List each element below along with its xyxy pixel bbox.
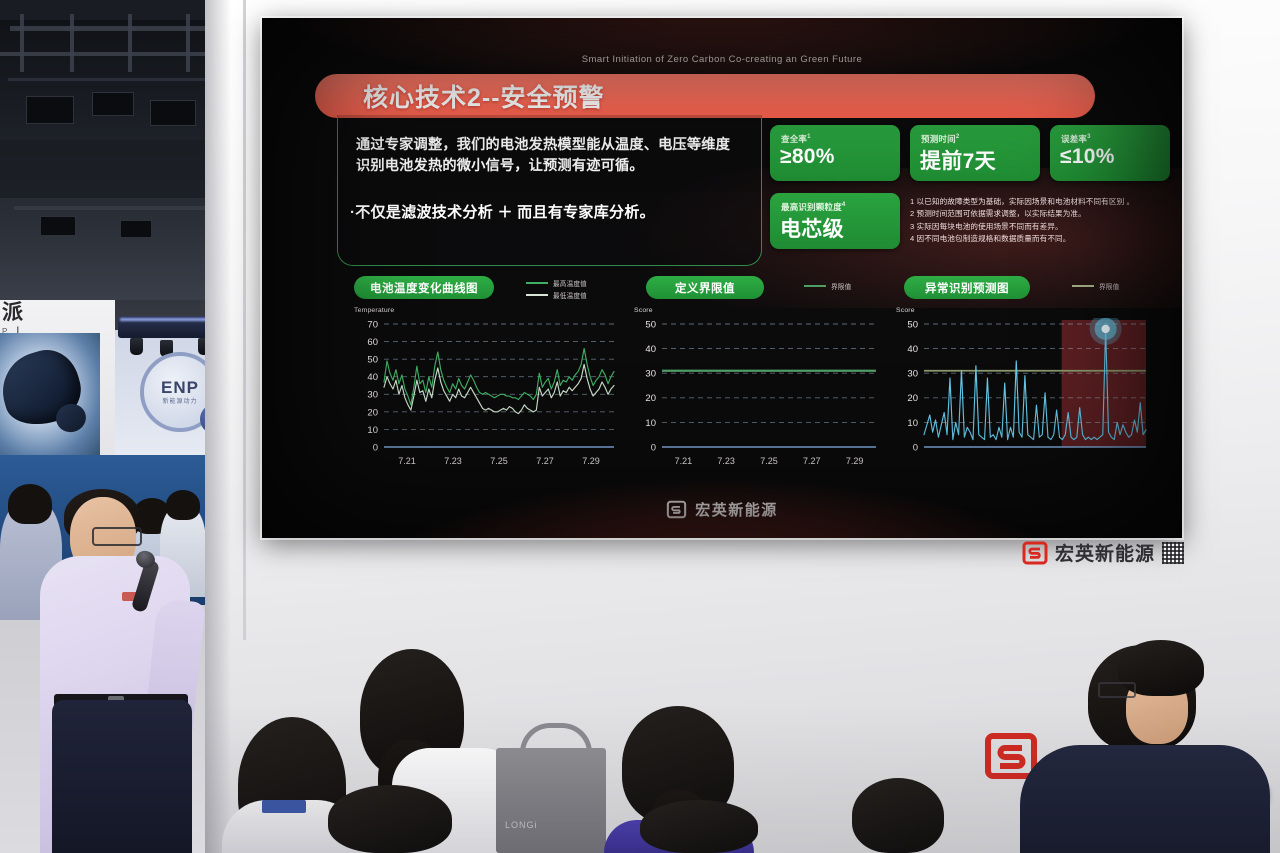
chart-temperature-ylabel: Temperature — [354, 307, 394, 314]
svg-text:7.27: 7.27 — [803, 456, 821, 466]
chart-temperature-legend: 最高温度值 最低温度值 — [526, 278, 587, 302]
stat-card-recall: 查全率1 ≥80% — [770, 125, 900, 181]
legend-label-threshold: 界限值 — [1099, 281, 1119, 291]
stat-card-error-label: 误差率3 — [1061, 133, 1091, 145]
svg-text:30: 30 — [907, 369, 918, 380]
audience-hair — [640, 800, 758, 853]
brand-hex-icon — [666, 500, 687, 519]
legend-item: 最低温度值 — [526, 290, 587, 300]
svg-text:7.21: 7.21 — [398, 456, 416, 466]
chart-threshold-ylabel: Score — [634, 307, 653, 314]
slide-footer-logo: 宏英新能源 — [262, 499, 1182, 520]
svg-text:50: 50 — [367, 355, 378, 366]
svg-text:50: 50 — [907, 319, 918, 330]
footnote-1: 1 以已知的故障类型为基础，实际因场景和电池材料不同有区别 。 — [910, 196, 1176, 208]
background-person-hair — [8, 484, 52, 524]
stat-card-granularity-label: 最高识别颗粒度4 — [781, 201, 845, 213]
svg-text:60: 60 — [367, 337, 378, 348]
stat-card-recall-label: 查全率1 — [781, 133, 811, 145]
legend-swatch-max — [526, 282, 548, 284]
stat-card-leadtime: 预测时间2 提前7天 — [910, 125, 1040, 181]
spotlight-icon — [130, 338, 143, 355]
svg-text:0: 0 — [913, 442, 918, 453]
slide-title: 核心技术2--安全预警 — [363, 78, 605, 114]
stat-card-recall-value: ≥80% — [780, 145, 835, 169]
svg-text:20: 20 — [367, 407, 378, 418]
chart-threshold-plot: 010203040507.217.237.257.277.29 — [634, 318, 884, 473]
slide-body-box: 通过专家调整，我们的电池发热模型能从温度、电压等维度识别电池发热的微小信号，让预… — [337, 115, 762, 266]
svg-text:20: 20 — [907, 393, 918, 404]
tote-bag — [496, 748, 606, 853]
chart-temperature: 电池温度变化曲线图 最高温度值 最低温度值 Temperature 010203… — [354, 276, 622, 481]
stat-card-error-value: ≤10% — [1060, 145, 1115, 169]
svg-text:40: 40 — [645, 344, 656, 355]
footnote-2: 2 预测时间范围可依据需求调整，以实际结果为准。 — [910, 208, 1176, 220]
legend-swatch-threshold — [1072, 285, 1094, 287]
svg-text:7.27: 7.27 — [536, 456, 554, 466]
legend-label-max: 最高温度值 — [553, 278, 587, 288]
svg-text:50: 50 — [645, 319, 656, 330]
svg-text:7.25: 7.25 — [760, 456, 778, 466]
svg-text:10: 10 — [367, 425, 378, 436]
audience-lanyard — [262, 800, 306, 813]
svg-text:70: 70 — [367, 319, 378, 330]
brand-hex-icon-red — [1022, 541, 1048, 565]
projected-slide: Smart Initiation of Zero Carbon Co-creat… — [262, 18, 1182, 538]
legend-item: 界限值 — [804, 281, 851, 291]
exhibition-photo: 派 P ┃ ENP 新能源动力 Smart Initiation of Zero… — [0, 0, 1280, 853]
stat-card-granularity-value: 电芯级 — [780, 213, 844, 243]
background-person-hair — [166, 490, 200, 520]
left-booth-brand: 派 P ┃ — [2, 296, 24, 336]
svg-text:20: 20 — [645, 393, 656, 404]
slide-body-paragraph: 通过专家调整，我们的电池发热模型能从温度、电压等维度识别电池发热的微小信号，让预… — [356, 135, 744, 176]
chart-threshold-legend: 界限值 — [804, 281, 851, 293]
legend-swatch-threshold — [804, 285, 826, 287]
enp-logo-text: ENP — [161, 379, 199, 396]
svg-text:7.29: 7.29 — [582, 456, 600, 466]
legend-swatch-min — [526, 294, 548, 296]
legend-label-threshold: 界限值 — [831, 281, 851, 291]
legend-item: 最高温度值 — [526, 278, 587, 288]
stat-card-leadtime-value: 提前7天 — [920, 145, 996, 175]
svg-text:7.23: 7.23 — [717, 456, 735, 466]
footnote-4: 4 因不同电池包制造规格和数据质量而有不同。 — [910, 233, 1176, 245]
svg-text:7.21: 7.21 — [675, 456, 693, 466]
wall-shadow — [205, 0, 231, 853]
glasses-icon — [92, 527, 142, 546]
chart-anomaly: 异常识别预测图 界限值 Score 01020304050 — [896, 276, 1154, 481]
audience-hair — [852, 778, 944, 853]
stat-card-leadtime-label: 预测时间2 — [921, 133, 959, 145]
chart-anomaly-legend: 界限值 — [1072, 281, 1119, 293]
svg-text:10: 10 — [645, 418, 656, 429]
svg-text:30: 30 — [645, 369, 656, 380]
presenter-trousers — [52, 700, 192, 853]
slide-title-banner: 核心技术2--安全预警 — [315, 74, 1095, 118]
svg-text:40: 40 — [907, 344, 918, 355]
footnote-3: 3 实际因每块电池的使用场景不同而有差异。 — [910, 221, 1176, 233]
tote-bag-text: LONGi — [505, 820, 538, 830]
slide-footer-brand: 宏英新能源 — [695, 499, 778, 520]
svg-text:7.25: 7.25 — [490, 456, 508, 466]
chart-anomaly-ylabel: Score — [896, 307, 915, 314]
svg-text:0: 0 — [651, 442, 656, 453]
stat-card-error: 误差率3 ≤10% — [1050, 125, 1170, 181]
svg-text:10: 10 — [907, 418, 918, 429]
svg-text:40: 40 — [367, 372, 378, 383]
audience-body — [1020, 745, 1270, 853]
svg-text:7.23: 7.23 — [444, 456, 462, 466]
slide-english-title: Smart Initiation of Zero Carbon Co-creat… — [262, 54, 1182, 65]
wall-brand-logo: 宏英新能源 — [1022, 539, 1184, 566]
stat-card-granularity: 最高识别颗粒度4 电芯级 — [770, 193, 900, 249]
glasses-icon — [1098, 682, 1136, 698]
chart-temperature-plot: 0102030405060707.217.237.257.277.29 — [354, 318, 622, 473]
chart-temperature-title: 电池温度变化曲线图 — [354, 276, 494, 299]
svg-text:7.29: 7.29 — [846, 456, 864, 466]
chart-anomaly-title: 异常识别预测图 — [904, 276, 1030, 299]
wall-brand-name: 宏英新能源 — [1055, 539, 1155, 566]
chart-threshold-title: 定义界限值 — [646, 276, 764, 299]
qr-code — [1162, 542, 1184, 564]
svg-text:30: 30 — [367, 390, 378, 401]
legend-label-min: 最低温度值 — [553, 290, 587, 300]
left-booth-brand-text: 派 — [2, 301, 24, 324]
slide-body-bullet: ·不仅是滤波技术分析 ＋ 而且有专家库分析。 — [350, 201, 750, 222]
slide-footnotes: 1 以已知的故障类型为基础，实际因场景和电池材料不同有区别 。 2 预测时间范围… — [910, 196, 1176, 245]
svg-text:0: 0 — [373, 442, 378, 453]
audience-hair — [328, 785, 452, 853]
legend-item: 界限值 — [1072, 281, 1119, 291]
chart-threshold: 定义界限值 界限值 Score 010203040507.217.237.257… — [634, 276, 884, 481]
wall-edge — [243, 0, 246, 640]
chart-anomaly-plot: 01020304050 — [896, 318, 1154, 473]
enp-logo-sub: 新能源动力 — [162, 396, 197, 405]
